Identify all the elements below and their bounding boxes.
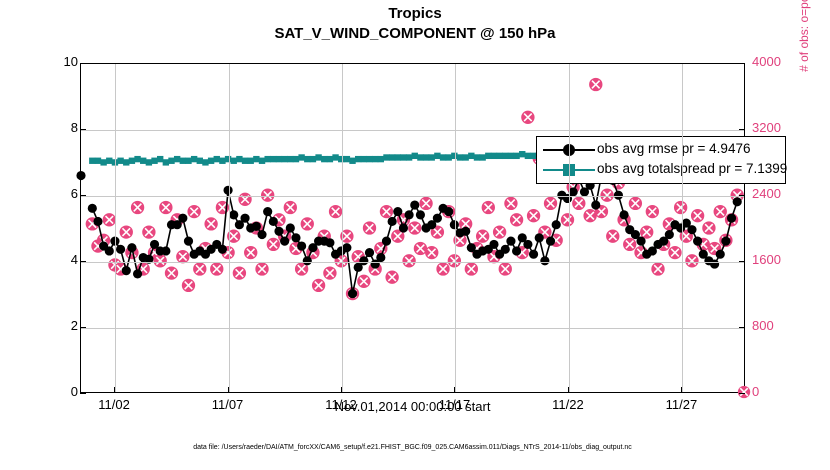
gridline-vertical xyxy=(115,64,116,392)
chart-legend: obs avg rmse pr = 4.9476 obs avg totalsp… xyxy=(536,136,786,184)
y-tick-mark-left xyxy=(80,261,86,262)
y-tick-mark-right xyxy=(739,195,745,196)
x-tick-mark xyxy=(454,387,455,393)
legend-item-totalspread: obs avg totalspread pr = 7.1399 xyxy=(537,159,787,181)
y-tick-label-right: 4000 xyxy=(752,54,812,69)
gridline-horizontal xyxy=(81,196,744,197)
gridline-horizontal xyxy=(81,130,744,131)
y-tick-mark-left xyxy=(80,327,86,328)
x-tick-mark xyxy=(341,387,342,393)
x-tick-mark xyxy=(228,387,229,393)
y-tick-mark-right xyxy=(739,63,745,64)
x-axis-label: Nov.01,2014 00:00:00 start xyxy=(80,399,745,414)
gridline-vertical xyxy=(569,64,570,392)
chart-title-line2: SAT_V_WIND_COMPONENT @ 150 hPa xyxy=(0,25,830,42)
y-tick-label-right: 800 xyxy=(752,318,812,333)
y-tick-mark-left xyxy=(80,63,86,64)
legend-label-rmse: obs avg rmse pr = 4.9476 xyxy=(597,141,750,156)
x-tick-label: 11/02 xyxy=(79,397,149,412)
y-tick-label-right: 2400 xyxy=(752,186,812,201)
gridline-vertical xyxy=(342,64,343,392)
chart-title-line1: Tropics xyxy=(0,5,830,22)
plot-area: obs avg rmse pr = 4.9476 obs avg totalsp… xyxy=(80,63,745,393)
x-tick-label: 11/22 xyxy=(533,397,603,412)
x-tick-mark xyxy=(568,387,569,393)
x-tick-label: 11/12 xyxy=(306,397,376,412)
y-tick-label-left: 0 xyxy=(18,384,78,399)
y-tick-label-right: 3200 xyxy=(752,120,812,135)
series-layer xyxy=(81,64,744,392)
y-tick-label-left: 8 xyxy=(18,120,78,135)
gridline-vertical xyxy=(455,64,456,392)
y-tick-label-right: 0 xyxy=(752,384,812,399)
y-tick-label-left: 4 xyxy=(18,252,78,267)
y-tick-mark-right xyxy=(739,393,745,394)
y-tick-mark-right xyxy=(739,129,745,130)
gridline-vertical xyxy=(682,64,683,392)
y-tick-mark-left xyxy=(80,129,86,130)
y-tick-label-left: 2 xyxy=(18,318,78,333)
y-tick-mark-right xyxy=(739,327,745,328)
data-file-label: data file: /Users/raeder/DAI/ATM_forcXX/… xyxy=(80,444,745,451)
gridline-vertical xyxy=(229,64,230,392)
y-tick-label-left: 6 xyxy=(18,186,78,201)
gridline-horizontal xyxy=(81,262,744,263)
y-tick-mark-left xyxy=(80,195,86,196)
x-tick-mark xyxy=(681,387,682,393)
gridline-horizontal xyxy=(81,328,744,329)
legend-item-rmse: obs avg rmse pr = 4.9476 xyxy=(537,139,787,161)
y-tick-label-left: 10 xyxy=(18,54,78,69)
x-tick-label: 11/07 xyxy=(193,397,263,412)
x-tick-mark xyxy=(114,387,115,393)
legend-label-totalspread: obs avg totalspread pr = 7.1399 xyxy=(597,161,787,176)
x-tick-label: 11/27 xyxy=(646,397,716,412)
x-tick-label: 11/17 xyxy=(419,397,489,412)
y-tick-mark-left xyxy=(80,393,86,394)
y-tick-label-right: 1600 xyxy=(752,252,812,267)
y-tick-mark-right xyxy=(739,261,745,262)
